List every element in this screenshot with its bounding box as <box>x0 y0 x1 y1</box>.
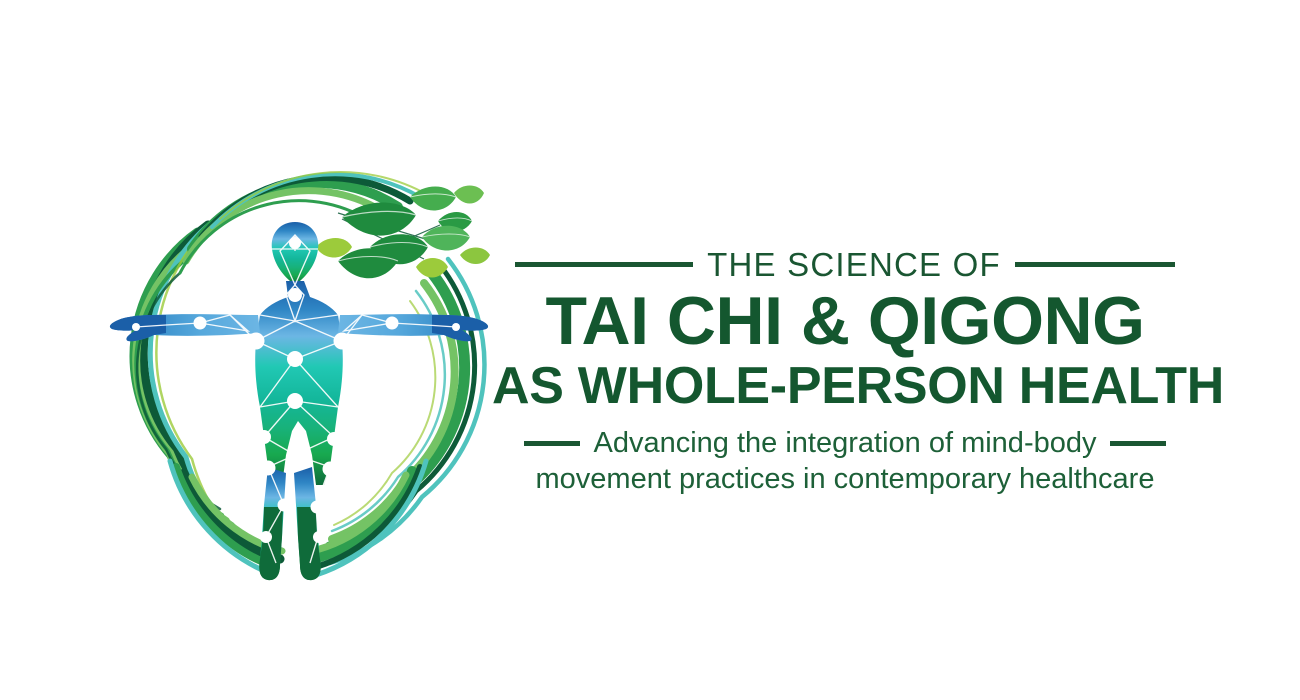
logo-text-lockup: THE SCIENCE OF TAI CHI & QIGONG AS WHOLE… <box>492 248 1198 513</box>
tagline-rule-left <box>524 441 580 446</box>
tagline-row-1: Advancing the integration of mind-body <box>492 427 1198 459</box>
tagline-line-2: movement practices in contemporary healt… <box>492 463 1198 495</box>
eyebrow-rule-left <box>515 262 693 267</box>
leaf-icon <box>460 248 490 265</box>
tagline-line-1: Advancing the integration of mind-body <box>594 427 1097 459</box>
leaf-icon <box>416 258 448 278</box>
eyebrow-row: THE SCIENCE OF <box>492 248 1198 281</box>
title-line-1: TAI CHI & QIGONG <box>492 287 1198 356</box>
title-line-2: AS WHOLE-PERSON HEALTH <box>492 360 1198 413</box>
leaf-icon <box>342 203 416 236</box>
eyebrow-text: THE SCIENCE OF <box>707 248 1001 281</box>
tagline-rule-right <box>1110 441 1166 446</box>
logo-mark <box>80 155 510 595</box>
eyebrow-rule-right <box>1015 262 1175 267</box>
leaf-icon <box>454 186 484 204</box>
ring-strokes-right <box>330 259 484 563</box>
logo-container: THE SCIENCE OF TAI CHI & QIGONG AS WHOLE… <box>0 0 1300 700</box>
